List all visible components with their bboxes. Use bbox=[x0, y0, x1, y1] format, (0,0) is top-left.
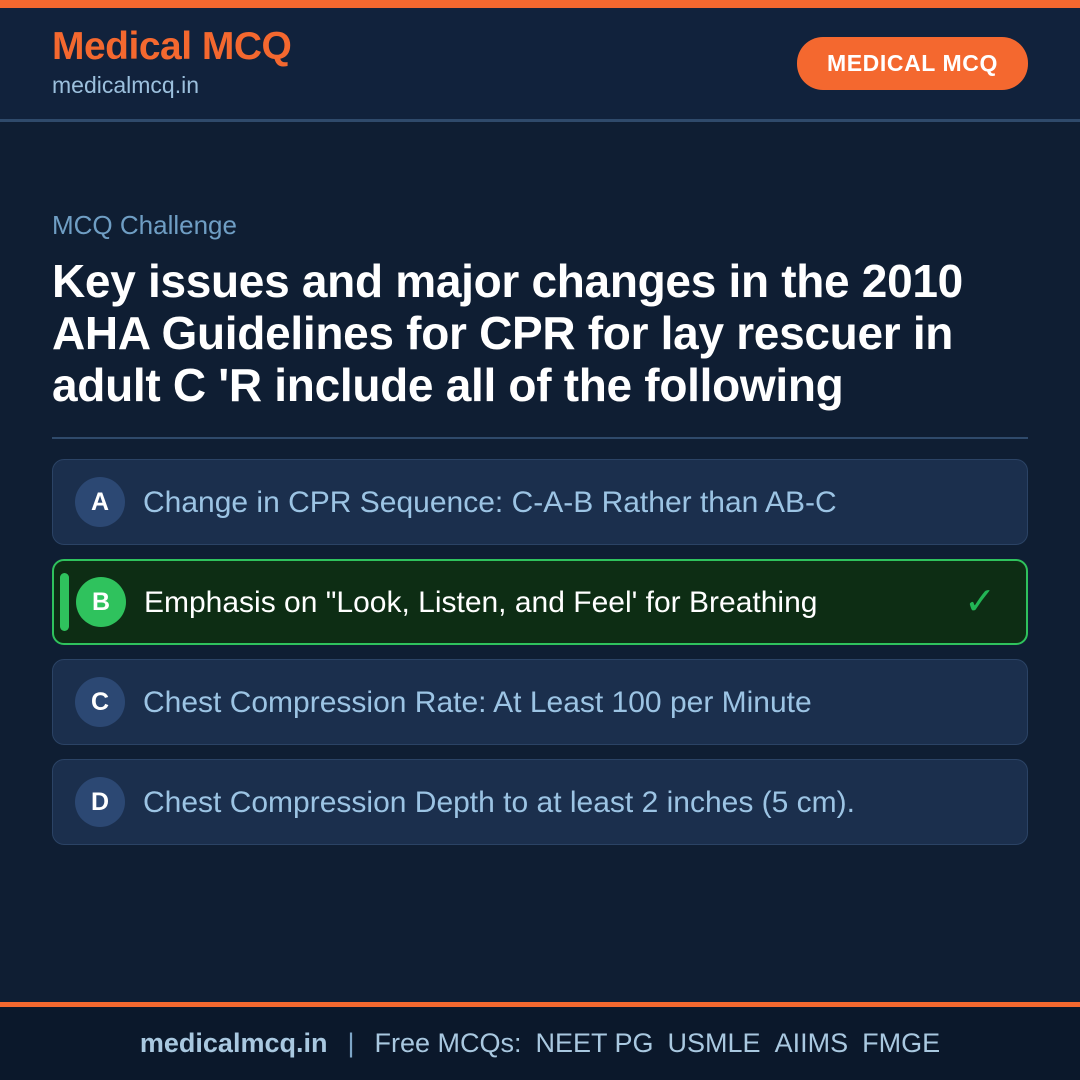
header-bar: Medical MCQ medicalmcq.in MEDICAL MCQ bbox=[0, 8, 1080, 122]
option-a[interactable]: A Change in CPR Sequence: C-A-B Rather t… bbox=[52, 459, 1028, 545]
check-icon: ✓ bbox=[958, 583, 1002, 621]
options-list: A Change in CPR Sequence: C-A-B Rather t… bbox=[52, 459, 1028, 845]
footer-exam-aiims: AIIMS bbox=[775, 1028, 849, 1059]
question-text: Key issues and major changes in the 2010… bbox=[52, 255, 1028, 411]
footer-site[interactable]: medicalmcq.in bbox=[140, 1028, 328, 1059]
brand-subtitle: medicalmcq.in bbox=[52, 71, 291, 100]
mcq-card: Medical MCQ medicalmcq.in MEDICAL MCQ MC… bbox=[0, 0, 1080, 1080]
footer-separator: | bbox=[347, 1028, 354, 1059]
option-letter-badge: D bbox=[75, 777, 125, 827]
option-label: Emphasis on "Look, Listen, and Feel' for… bbox=[144, 586, 958, 619]
main-content: MCQ Challenge Key issues and major chang… bbox=[0, 122, 1080, 1002]
question-divider bbox=[52, 437, 1028, 439]
eyebrow-label: MCQ Challenge bbox=[52, 210, 1028, 241]
option-letter-badge: C bbox=[75, 677, 125, 727]
footer-exam-usmle: USMLE bbox=[668, 1028, 761, 1059]
top-accent-rule bbox=[0, 0, 1080, 8]
option-label: Chest Compression Rate: At Least 100 per… bbox=[143, 686, 959, 719]
footer-label: Free MCQs: bbox=[374, 1028, 521, 1059]
footer-exam-fmge: FMGE bbox=[862, 1028, 940, 1059]
option-b[interactable]: B Emphasis on "Look, Listen, and Feel' f… bbox=[52, 559, 1028, 645]
footer-bar: medicalmcq.in | Free MCQs: NEET PG USMLE… bbox=[0, 1002, 1080, 1080]
option-letter-badge: A bbox=[75, 477, 125, 527]
brand-title: Medical MCQ bbox=[52, 27, 291, 68]
correct-accent-bar bbox=[60, 573, 69, 631]
option-label: Chest Compression Depth to at least 2 in… bbox=[143, 786, 959, 819]
option-label: Change in CPR Sequence: C-A-B Rather tha… bbox=[143, 486, 959, 519]
option-letter-badge: B bbox=[76, 577, 126, 627]
brand-block: Medical MCQ medicalmcq.in bbox=[52, 27, 291, 99]
option-d[interactable]: D Chest Compression Depth to at least 2 … bbox=[52, 759, 1028, 845]
footer-text: medicalmcq.in | Free MCQs: NEET PG USMLE… bbox=[140, 1028, 940, 1059]
header-badge: MEDICAL MCQ bbox=[797, 37, 1028, 90]
option-c[interactable]: C Chest Compression Rate: At Least 100 p… bbox=[52, 659, 1028, 745]
footer-exam-neet-pg: NEET PG bbox=[536, 1028, 654, 1059]
